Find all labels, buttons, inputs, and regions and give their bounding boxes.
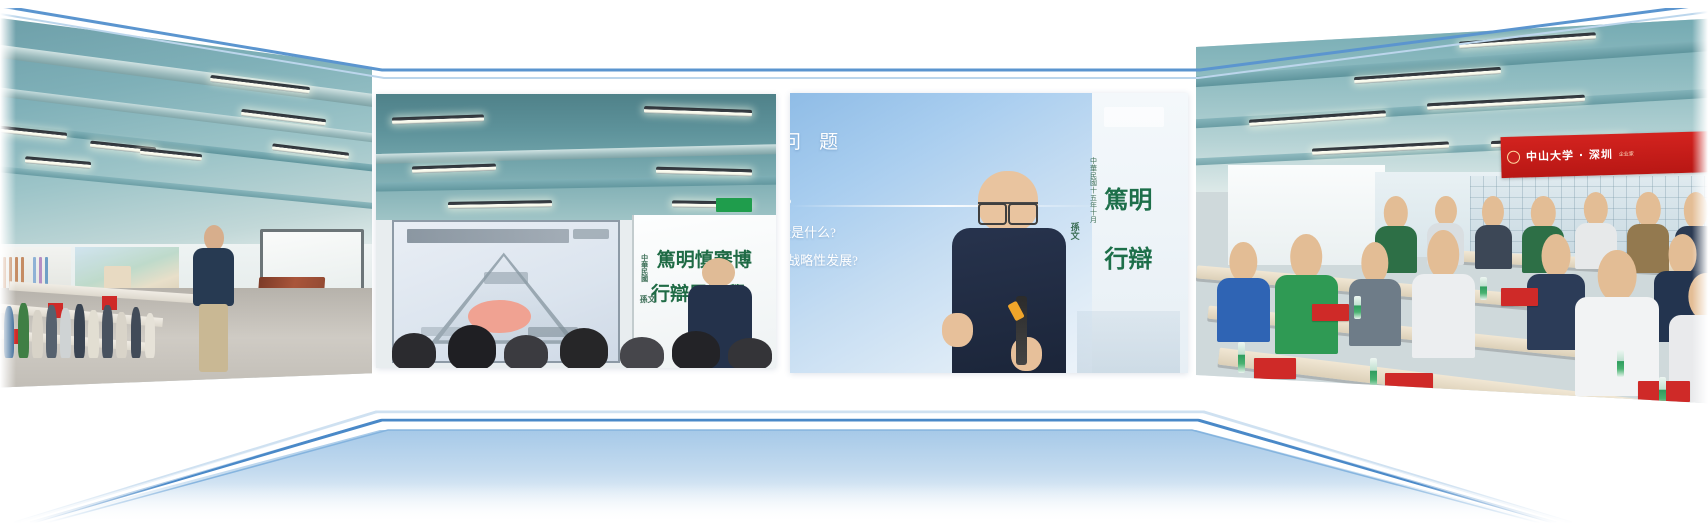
perspective-frame	[0, 0, 1708, 523]
left-edge-fade	[0, 0, 16, 523]
top-edge-fade	[0, 0, 1708, 8]
bottom-edge-fade	[0, 483, 1708, 523]
right-edge-fade	[1692, 0, 1708, 523]
gallery-carousel: 篤明慎審博 行辯思問學 中華民國 孫文	[0, 0, 1708, 523]
